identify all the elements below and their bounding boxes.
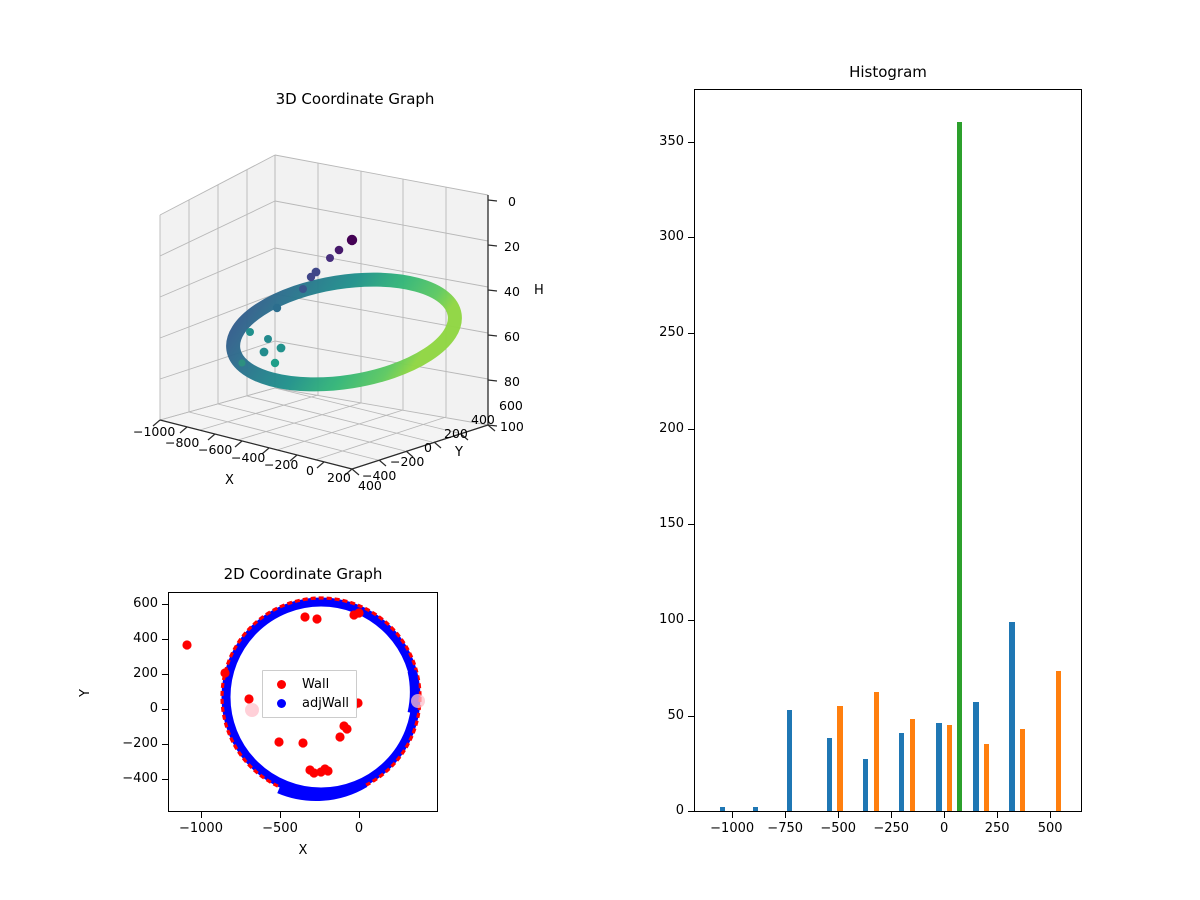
histogram-bar (973, 702, 979, 811)
histogram-bar (899, 733, 905, 811)
plot3d-xtick-5: 0 (306, 463, 314, 478)
hist-ytick-50: 50 (630, 708, 684, 723)
hist-xtickmark (785, 812, 786, 818)
hist-ytickmark (688, 333, 694, 334)
plot2d-ytickmark (162, 639, 168, 640)
legend-marker-wall (277, 680, 286, 689)
hist-ytickmark (688, 716, 694, 717)
plot3d-ytick-3: 200 (444, 426, 468, 441)
plot2d-xtickmark (280, 812, 281, 818)
histogram-bar (910, 719, 916, 811)
plot3d-xtick-1: −800 (165, 435, 199, 450)
plot2d-ylabel: Y (78, 689, 93, 697)
plot2d-ytick-200: 200 (110, 666, 158, 681)
plot3d-ylabel: Y (455, 445, 463, 460)
legend-label-wall: Wall (302, 677, 329, 692)
histogram-axes[interactable] (694, 89, 1082, 812)
legend-entry-adjwall[interactable]: adjWall (268, 694, 349, 713)
plot3d-xtick-2: −600 (198, 442, 232, 457)
plot2d-ytick-neg400: −400 (110, 771, 158, 786)
plot2d-xtick-neg1000: −1000 (161, 821, 241, 836)
hist-ytick-0: 0 (630, 803, 684, 818)
legend-label-adjwall: adjWall (302, 696, 349, 711)
hist-ytickmark (688, 811, 694, 812)
plot3d-ztick-2: 40 (504, 284, 520, 299)
hist-ytickmark (688, 524, 694, 525)
plot2d-xtickmark (359, 812, 360, 818)
plot2d-ytickmark (162, 779, 168, 780)
hist-ytick-150: 150 (630, 516, 684, 531)
histogram-bar (936, 723, 942, 811)
plot2d-xtickmark (201, 812, 202, 818)
plot2d-ytick-600: 600 (110, 596, 158, 611)
plot3d-ytick-5: 600 (499, 398, 523, 413)
plot3d-ytick-1: −200 (390, 454, 424, 469)
plot3d-ztick-3: 60 (504, 329, 520, 344)
histogram-bar (1009, 622, 1015, 811)
histogram-bar (753, 807, 759, 811)
legend-marker-adjwall (277, 699, 286, 708)
plot2d-xtick-0: 0 (332, 821, 386, 836)
hist-xtickmark (838, 812, 839, 818)
plot3d-xtick-3: −400 (231, 450, 265, 465)
plot3d-canvas (130, 120, 580, 520)
plot3d-ztick-1: 20 (504, 239, 520, 254)
hist-ytickmark (688, 429, 694, 430)
plot3d-ytick-4: 400 (471, 412, 495, 427)
histogram-bar (863, 759, 869, 811)
hist-ytick-300: 300 (630, 229, 684, 244)
plot2d-ytickmark (162, 744, 168, 745)
hist-ytick-200: 200 (630, 421, 684, 436)
histogram-bar (874, 692, 880, 811)
hist-xtickmark (1050, 812, 1051, 818)
hist-xtickmark (891, 812, 892, 818)
hist-xtickmark (944, 812, 945, 818)
histogram-title: Histogram (694, 63, 1082, 81)
histogram-bar (947, 725, 953, 811)
plot3d-xtick-6: 200 (327, 470, 351, 485)
histogram-bar (837, 706, 843, 811)
plot3d-axes[interactable]: −1000 −800 −600 −400 −200 0 200 400 X −4… (130, 120, 580, 520)
plot3d-title: 3D Coordinate Graph (130, 90, 580, 108)
plot2d-ytickmark (162, 709, 168, 710)
histogram-bar (984, 744, 990, 811)
hist-ytick-350: 350 (630, 134, 684, 149)
matplotlib-figure: 3D Coordinate Graph (0, 0, 1200, 900)
plot3d-xlabel: X (225, 473, 234, 488)
plot2d-ytickmark (162, 604, 168, 605)
plot3d-zlabel: H (534, 283, 544, 298)
histogram-bar (787, 710, 793, 811)
histogram-bar (1020, 729, 1026, 811)
plot2d-ytick-400: 400 (110, 631, 158, 646)
plot2d-title: 2D Coordinate Graph (168, 565, 438, 583)
plot2d-ytick-neg200: −200 (110, 736, 158, 751)
histogram-bar (957, 122, 963, 811)
histogram-bar (1056, 671, 1062, 811)
plot3d-ztick-0: 0 (508, 194, 516, 209)
hist-ytickmark (688, 142, 694, 143)
hist-xtickmark (732, 812, 733, 818)
plot3d-xtick-4: −200 (264, 457, 298, 472)
legend-entry-wall[interactable]: Wall (268, 675, 349, 694)
plot2d-xtick-neg500: −500 (243, 821, 317, 836)
plot2d-ytick-0: 0 (110, 701, 158, 716)
hist-xtickmark (997, 812, 998, 818)
hist-ytickmark (688, 620, 694, 621)
histogram-bar (827, 738, 833, 811)
plot3d-ytick-2: 0 (424, 440, 432, 455)
plot2d-legend[interactable]: Wall adjWall (262, 670, 357, 718)
hist-ytickmark (688, 237, 694, 238)
plot3d-ztick-5: 100 (500, 419, 524, 434)
plot2d-axes[interactable]: Wall adjWall (168, 592, 438, 812)
histogram-bar (720, 807, 726, 811)
plot3d-ytick-0: −400 (362, 468, 396, 483)
plot2d-ytickmark (162, 674, 168, 675)
plot2d-xlabel: X (168, 843, 438, 858)
hist-ytick-250: 250 (630, 325, 684, 340)
hist-ytick-100: 100 (630, 612, 684, 627)
plot3d-ztick-4: 80 (504, 374, 520, 389)
hist-xtick-500: 500 (1010, 821, 1090, 836)
histogram-bars (695, 90, 1081, 811)
